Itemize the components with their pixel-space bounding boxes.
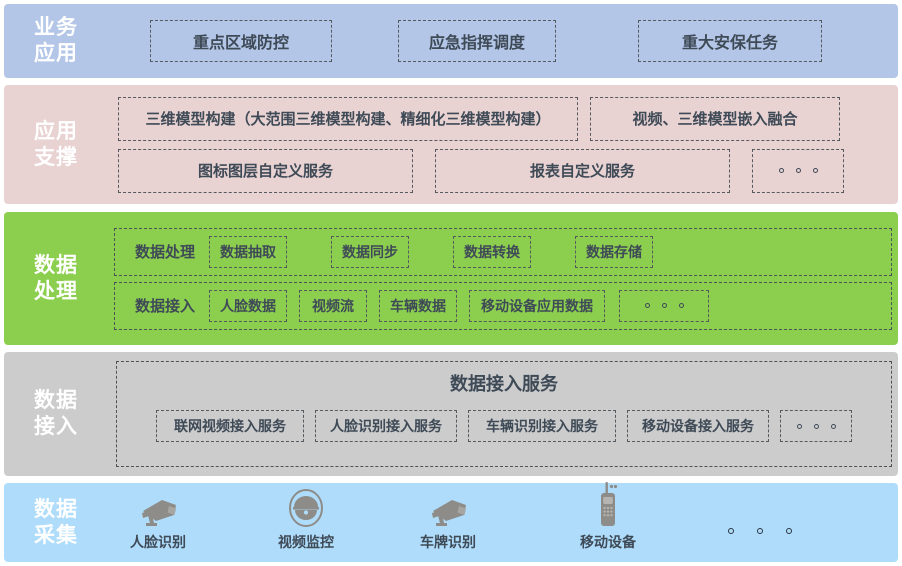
- architecture-diagram: 业务 应用 重点区域防控 应急指挥调度 重大安保任务 应用 支撑 三维模型构建（…: [0, 0, 902, 566]
- layer-label-line1: 数据: [34, 388, 78, 414]
- ingest-item-video-stream[interactable]: 视频流: [299, 290, 367, 322]
- layer-data-access: 数据 接入 数据接入服务 联网视频接入服务 人脸识别接入服务 车辆识别接入服务 …: [4, 352, 898, 476]
- support-row-2: 图标图层自定义服务 报表自定义服务: [118, 149, 894, 193]
- collection-item-license-plate-recognition[interactable]: 车牌识别: [420, 488, 476, 552]
- collection-caption: 视频监控: [278, 532, 334, 552]
- layer-label-line1: 数据: [34, 253, 78, 279]
- layer-label-line1: 业务: [34, 15, 78, 41]
- ingest-item-vehicle-data[interactable]: 车辆数据: [379, 290, 457, 322]
- ingest-item-mobile-device-app-data[interactable]: 移动设备应用数据: [469, 290, 605, 322]
- layer-label-line1: 数据: [34, 497, 78, 523]
- processing-item-data-storage[interactable]: 数据存储: [575, 236, 653, 268]
- business-item-emergency-command[interactable]: 应急指挥调度: [398, 20, 556, 62]
- business-items-row: 重点区域防控 应急指挥调度 重大安保任务: [108, 4, 898, 78]
- layer-label-application-support: 应用 支撑: [4, 85, 108, 204]
- layer-label-line2: 支撑: [34, 145, 78, 171]
- business-item-major-security-task[interactable]: 重大安保任务: [638, 20, 822, 62]
- layer-label-data-processing: 数据 处理: [4, 212, 108, 345]
- layer-body-data-collection: 人脸识别 视频监控: [108, 483, 898, 562]
- layer-application-support: 应用 支撑 三维模型构建（大范围三维模型构建、精细化三维模型构建） 视频、三维模…: [4, 85, 898, 204]
- processing-item-data-sync[interactable]: 数据同步: [331, 236, 409, 268]
- layer-label-line2: 采集: [34, 523, 78, 549]
- business-item-key-area-control[interactable]: 重点区域防控: [150, 20, 332, 62]
- support-row-1: 三维模型构建（大范围三维模型构建、精细化三维模型构建） 视频、三维模型嵌入融合: [118, 97, 894, 141]
- ingest-item-more[interactable]: [619, 290, 709, 322]
- layer-business-application: 业务 应用 重点区域防控 应急指挥调度 重大安保任务: [4, 4, 898, 78]
- ellipsis-icon: [645, 303, 684, 308]
- access-item-vehicle-recognition-service[interactable]: 车辆识别接入服务: [468, 410, 616, 442]
- ellipsis-icon: [779, 168, 818, 173]
- cctv-camera-icon: [136, 488, 180, 528]
- ellipsis-icon: [797, 424, 836, 429]
- layer-label-line2: 应用: [34, 41, 78, 67]
- layer-label-business-application: 业务 应用: [4, 4, 108, 78]
- processing-item-data-extraction[interactable]: 数据抽取: [209, 236, 287, 268]
- processing-item-data-transform[interactable]: 数据转换: [453, 236, 531, 268]
- support-item-report-custom-service[interactable]: 报表自定义服务: [435, 149, 730, 193]
- layer-body-data-processing: 数据处理 数据抽取 数据同步 数据转换 数据存储 数据接入 人脸数据 视频流 车…: [108, 212, 898, 345]
- dome-camera-icon: [287, 488, 325, 528]
- access-item-more[interactable]: [780, 410, 852, 442]
- ingest-group-label: 数据接入: [121, 295, 209, 316]
- data-access-service-group: 数据接入服务 联网视频接入服务 人脸识别接入服务 车辆识别接入服务 移动设备接入…: [116, 361, 892, 467]
- collection-items-row: 人脸识别 视频监控: [108, 483, 898, 562]
- processing-group-label: 数据处理: [121, 241, 209, 262]
- support-item-more[interactable]: [752, 149, 844, 193]
- collection-item-mobile-device[interactable]: 移动设备: [580, 488, 636, 552]
- data-access-items-row: 联网视频接入服务 人脸识别接入服务 车辆识别接入服务 移动设备接入服务: [156, 410, 852, 442]
- collection-caption: 移动设备: [580, 532, 636, 552]
- processing-group-data-ingest: 数据接入 人脸数据 视频流 车辆数据 移动设备应用数据: [114, 282, 892, 330]
- support-rows: 三维模型构建（大范围三维模型构建、精细化三维模型构建） 视频、三维模型嵌入融合 …: [108, 85, 898, 204]
- layer-data-processing: 数据 处理 数据处理 数据抽取 数据同步 数据转换 数据存储 数据接入 人脸数据…: [4, 212, 898, 345]
- cctv-camera-icon: [426, 488, 470, 528]
- collection-ellipsis-icon: [728, 528, 792, 534]
- processing-rows: 数据处理 数据抽取 数据同步 数据转换 数据存储 数据接入 人脸数据 视频流 车…: [108, 212, 898, 345]
- collection-caption: 车牌识别: [420, 532, 476, 552]
- support-item-icon-layer-custom-service[interactable]: 图标图层自定义服务: [118, 149, 413, 193]
- layer-data-collection: 数据 采集: [4, 483, 898, 562]
- ingest-item-face-data[interactable]: 人脸数据: [209, 290, 287, 322]
- collection-caption: 人脸识别: [130, 532, 186, 552]
- access-item-face-recognition-service[interactable]: 人脸识别接入服务: [315, 410, 457, 442]
- support-item-3d-model-build[interactable]: 三维模型构建（大范围三维模型构建、精细化三维模型构建）: [118, 97, 578, 141]
- layer-label-line2: 接入: [34, 414, 78, 440]
- layer-body-application-support: 三维模型构建（大范围三维模型构建、精细化三维模型构建） 视频、三维模型嵌入融合 …: [108, 85, 898, 204]
- support-item-video-3d-fusion[interactable]: 视频、三维模型嵌入融合: [590, 97, 840, 141]
- layer-label-line2: 处理: [34, 279, 78, 305]
- collection-item-video-surveillance[interactable]: 视频监控: [278, 488, 334, 552]
- processing-group-data-processing: 数据处理 数据抽取 数据同步 数据转换 数据存储: [114, 228, 892, 276]
- walkie-talkie-icon: [595, 488, 621, 528]
- layer-label-data-access: 数据 接入: [4, 352, 108, 476]
- layer-label-data-collection: 数据 采集: [4, 483, 108, 562]
- layer-label-line1: 应用: [34, 119, 78, 145]
- access-item-mobile-device-service[interactable]: 移动设备接入服务: [627, 410, 769, 442]
- layer-body-business-application: 重点区域防控 应急指挥调度 重大安保任务: [108, 4, 898, 78]
- access-item-networked-video-service[interactable]: 联网视频接入服务: [156, 410, 304, 442]
- collection-item-face-recognition[interactable]: 人脸识别: [130, 488, 186, 552]
- layer-body-data-access: 数据接入服务 联网视频接入服务 人脸识别接入服务 车辆识别接入服务 移动设备接入…: [108, 352, 898, 476]
- data-access-service-title: 数据接入服务: [450, 370, 558, 396]
